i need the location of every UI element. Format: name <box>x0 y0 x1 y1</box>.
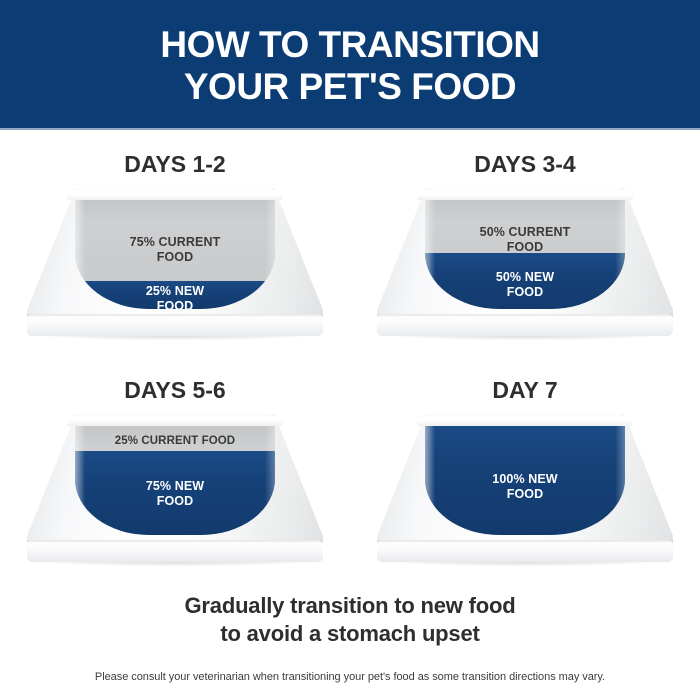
panel-title: DAY 7 <box>492 379 557 402</box>
bowl-base <box>27 314 323 336</box>
bowl-rim <box>67 416 283 426</box>
bowl-inner-cavity: 75% CURRENT FOOD 25% NEW FOOD <box>75 197 275 309</box>
panel-day-7: DAY 7 100% NEW FOOD <box>350 359 700 585</box>
bowl-rim <box>417 416 633 426</box>
header-banner: HOW TO TRANSITION YOUR PET'S FOOD <box>0 0 700 128</box>
bowl-inner-cavity: 25% CURRENT FOOD 75% NEW FOOD <box>75 423 275 535</box>
footer-disclaimer: Please consult your veterinarian when tr… <box>0 670 700 684</box>
page-title-line-1: HOW TO TRANSITION <box>160 24 539 65</box>
bowl-base <box>377 540 673 562</box>
bowl-labels: 25% CURRENT FOOD 75% NEW FOOD <box>75 423 275 535</box>
bowl-rim <box>67 190 283 200</box>
current-food-label: 25% CURRENT FOOD <box>75 435 275 449</box>
bowl-labels: 100% NEW FOOD <box>425 423 625 535</box>
footer-headline: Gradually transition to new food to avoi… <box>70 592 630 648</box>
new-food-label: 50% NEW FOOD <box>425 270 625 300</box>
new-food-label: 100% NEW FOOD <box>425 472 625 502</box>
panel-days-5-6: DAYS 5-6 25% CURRENT FOOD 75% NEW FOOD <box>0 359 350 585</box>
infographic-root: HOW TO TRANSITION YOUR PET'S FOOD DAYS 1… <box>0 0 700 700</box>
bowl-days-5-6: 25% CURRENT FOOD 75% NEW FOOD <box>27 414 323 566</box>
page-title-line-2: YOUR PET'S FOOD <box>0 66 700 108</box>
panel-title: DAYS 1-2 <box>124 153 225 176</box>
page-title: HOW TO TRANSITION YOUR PET'S FOOD <box>0 24 700 108</box>
panel-title: DAYS 3-4 <box>474 153 575 176</box>
bowl-inner-cavity: 100% NEW FOOD <box>425 423 625 535</box>
panel-days-3-4: DAYS 3-4 50% CURRENT FOOD 50% NEW FOOD <box>350 133 700 359</box>
bowl-rim <box>417 190 633 200</box>
bowl-inner-cavity: 50% CURRENT FOOD 50% NEW FOOD <box>425 197 625 309</box>
bowl-labels: 75% CURRENT FOOD 25% NEW FOOD <box>75 197 275 309</box>
panel-title: DAYS 5-6 <box>124 379 225 402</box>
bowl-base <box>27 540 323 562</box>
current-food-label: 50% CURRENT FOOD <box>425 225 625 255</box>
panel-days-1-2: DAYS 1-2 75% CURRENT FOOD 25% NEW FOOD <box>0 133 350 359</box>
header-divider <box>0 128 700 130</box>
bowl-day-7: 100% NEW FOOD <box>377 414 673 566</box>
bowl-base <box>377 314 673 336</box>
transition-panels-grid: DAYS 1-2 75% CURRENT FOOD 25% NEW FOOD <box>0 133 700 585</box>
bowl-days-1-2: 75% CURRENT FOOD 25% NEW FOOD <box>27 188 323 340</box>
current-food-label: 75% CURRENT FOOD <box>75 235 275 265</box>
bowl-labels: 50% CURRENT FOOD 50% NEW FOOD <box>425 197 625 309</box>
new-food-label: 75% NEW FOOD <box>75 479 275 509</box>
bowl-days-3-4: 50% CURRENT FOOD 50% NEW FOOD <box>377 188 673 340</box>
new-food-label: 25% NEW FOOD <box>75 284 275 309</box>
footer: Gradually transition to new food to avoi… <box>0 592 700 685</box>
